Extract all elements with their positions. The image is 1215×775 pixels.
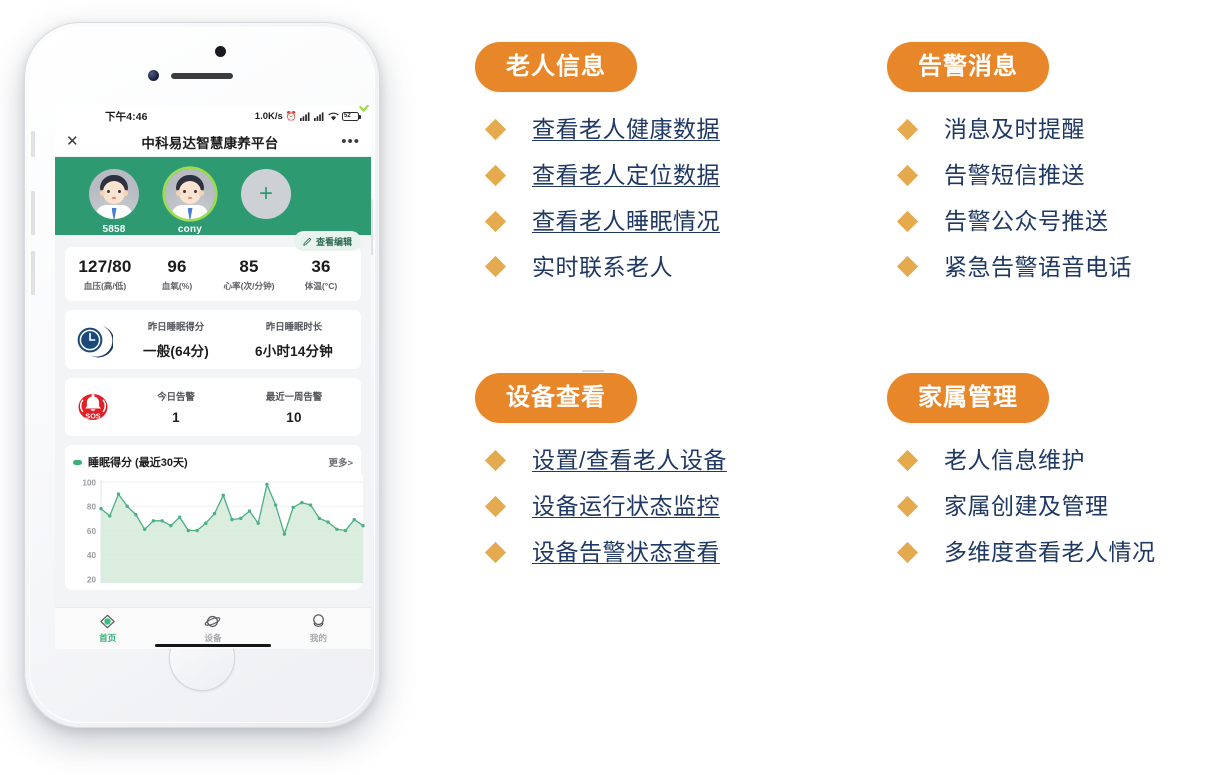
- status-bar: 下午4:46 1.0K/s ⏰: [55, 105, 371, 127]
- svg-text:20: 20: [87, 575, 97, 583]
- today-alarm-column: 今日告警 1: [117, 389, 235, 425]
- section-device-view: 设备查看 设置/查看老人设备 设备运行状态监控 设备告警状态查看: [475, 373, 845, 584]
- list-item[interactable]: 设置/查看老人设备: [475, 446, 845, 475]
- sleep-score-column: 昨日睡眠得分 一般(64分): [117, 319, 235, 360]
- signal-bars-icon: [314, 112, 325, 121]
- alarm-summary-card[interactable]: SOS 今日告警 1 最近一周告警 10: [65, 378, 361, 436]
- column-value: 6小时14分钟: [235, 340, 353, 360]
- home-icon: [99, 613, 116, 630]
- diamond-bullet-icon: [485, 450, 506, 471]
- section-item-list: 设置/查看老人设备 设备运行状态监控 设备告警状态查看: [475, 446, 845, 566]
- chart-header: 睡眠得分 (最近30天) 更多>: [73, 454, 353, 470]
- status-bar-time: 下午4:46: [105, 109, 148, 124]
- more-options-icon[interactable]: •••: [341, 134, 360, 149]
- diamond-bullet-icon: [897, 165, 918, 186]
- poster-canvas: 下午4:46 1.0K/s ⏰: [0, 0, 1215, 775]
- alarm-clock-icon: ⏰: [286, 112, 297, 121]
- earpiece-speaker-icon: [171, 73, 233, 79]
- decorative-dash: [582, 370, 604, 372]
- list-item[interactable]: 紧急告警语音电话: [887, 253, 1215, 282]
- avatar-name: 5858: [102, 224, 125, 235]
- vital-value: 96: [141, 257, 213, 277]
- sleep-score-area-chart: 10080604020: [73, 475, 369, 583]
- vital-blood-oxygen[interactable]: 96 血氧(%): [141, 257, 213, 292]
- section-item-list: 消息及时提醒 告警短信推送 告警公众号推送 紧急告警语音电话: [887, 115, 1215, 281]
- plus-icon: +: [241, 169, 291, 219]
- list-item-label: 查看老人健康数据: [532, 115, 720, 144]
- volume-down-button[interactable]: [31, 251, 35, 295]
- section-title-pill: 设备查看: [475, 373, 637, 423]
- list-item-label: 设置/查看老人设备: [532, 446, 727, 475]
- section-item-list: 查看老人健康数据 查看老人定位数据 查看老人睡眠情况 实时联系老人: [475, 115, 845, 281]
- column-value: 1: [117, 410, 235, 425]
- sleep-duration-column: 昨日睡眠时长 6小时14分钟: [235, 319, 353, 360]
- legend-dot-icon: [73, 460, 82, 465]
- vital-label: 血氧(%): [141, 280, 213, 292]
- phone-screen: 下午4:46 1.0K/s ⏰: [55, 105, 371, 649]
- list-item-label: 设备告警状态查看: [532, 538, 720, 567]
- diamond-bullet-icon: [897, 256, 918, 277]
- list-item-label: 告警公众号推送: [944, 207, 1109, 236]
- vital-label: 心率(次/分钟): [213, 280, 285, 292]
- front-camera-icon: [148, 70, 159, 81]
- profile-icon: [310, 613, 327, 630]
- list-item[interactable]: 查看老人睡眠情况: [475, 207, 845, 236]
- signal-bars-icon: [300, 112, 311, 121]
- column-title: 最近一周告警: [235, 389, 353, 403]
- diamond-bullet-icon: [485, 256, 506, 277]
- week-alarm-column: 最近一周告警 10: [235, 389, 353, 425]
- diamond-bullet-icon: [485, 496, 506, 517]
- vital-value: 85: [213, 257, 285, 277]
- svg-text:60: 60: [87, 527, 97, 536]
- list-item[interactable]: 家属创建及管理: [887, 492, 1215, 521]
- vital-label: 体温(°C): [285, 280, 357, 292]
- sos-bell-icon: SOS: [73, 387, 113, 427]
- chart-more-link[interactable]: 更多>: [328, 455, 353, 469]
- diamond-bullet-icon: [897, 542, 918, 563]
- diamond-bullet-icon: [485, 119, 506, 140]
- list-item-label: 查看老人定位数据: [532, 161, 720, 190]
- app-title: 中科易达智慧康养平台: [79, 132, 342, 152]
- app-navigation-bar: ✕ 中科易达智慧康养平台 •••: [55, 127, 371, 157]
- battery-icon: 52: [342, 112, 359, 121]
- vital-label: 血压(高/低): [69, 280, 141, 292]
- chart-plot: 10080604020: [73, 475, 353, 588]
- list-item[interactable]: 老人信息维护: [887, 446, 1215, 475]
- phone-body: 下午4:46 1.0K/s ⏰: [24, 22, 380, 728]
- list-item[interactable]: 告警短信推送: [887, 161, 1215, 190]
- list-item[interactable]: 实时联系老人: [475, 253, 845, 282]
- column-value: 10: [235, 410, 353, 425]
- sleep-score-chart-card: 睡眠得分 (最近30天) 更多> 10080604020: [65, 445, 361, 590]
- vital-temperature[interactable]: 36 体温(°C): [285, 257, 357, 292]
- vital-heart-rate[interactable]: 85 心率(次/分钟): [213, 257, 285, 292]
- vital-value: 36: [285, 257, 357, 277]
- column-title: 昨日睡眠时长: [235, 319, 353, 333]
- add-elder-button[interactable]: +: [237, 169, 295, 219]
- list-item[interactable]: 查看老人健康数据: [475, 115, 845, 144]
- sleep-summary-card[interactable]: 昨日睡眠得分 一般(64分) 昨日睡眠时长 6小时14分钟: [65, 310, 361, 369]
- list-item-label: 家属创建及管理: [944, 492, 1109, 521]
- list-item-label: 告警短信推送: [944, 161, 1085, 190]
- check-icon: [359, 105, 371, 114]
- view-edit-label: 查看编辑: [316, 235, 352, 248]
- list-item-label: 设备运行状态监控: [532, 492, 720, 521]
- device-icon: [204, 613, 221, 630]
- pencil-icon: [303, 237, 312, 246]
- home-indicator: [155, 644, 271, 647]
- svg-text:SOS: SOS: [85, 411, 100, 420]
- tab-home[interactable]: 首页: [55, 613, 160, 644]
- diamond-bullet-icon: [897, 450, 918, 471]
- section-title-pill: 告警消息: [887, 42, 1049, 92]
- section-title-pill: 老人信息: [475, 42, 637, 92]
- column-title: 昨日睡眠得分: [117, 319, 235, 333]
- list-item-label: 多维度查看老人情况: [944, 538, 1156, 567]
- avatar: [89, 169, 139, 219]
- volume-up-button[interactable]: [31, 191, 35, 235]
- column-value: 一般(64分): [117, 340, 235, 360]
- network-speed-label: 1.0K/s: [255, 111, 283, 122]
- avatar: [165, 169, 215, 219]
- avatar-name: cony: [178, 224, 202, 235]
- tab-device[interactable]: 设备: [160, 613, 265, 644]
- list-item[interactable]: 消息及时提醒: [887, 115, 1215, 144]
- svg-text:100: 100: [82, 478, 96, 487]
- list-item-label: 老人信息维护: [944, 446, 1085, 475]
- tab-profile[interactable]: 我的: [266, 613, 371, 644]
- bottom-tab-bar: 首页 设备 我的: [55, 607, 371, 649]
- diamond-bullet-icon: [485, 165, 506, 186]
- diamond-bullet-icon: [485, 211, 506, 232]
- diamond-bullet-icon: [897, 496, 918, 517]
- view-edit-button[interactable]: 查看编辑: [294, 231, 361, 251]
- diamond-bullet-icon: [897, 211, 918, 232]
- list-item-label: 消息及时提醒: [944, 115, 1085, 144]
- column-title: 今日告警: [117, 389, 235, 403]
- avatar-item[interactable]: 5858: [85, 169, 143, 235]
- section-family-management: 家属管理 老人信息维护 家属创建及管理 多维度查看老人情况: [887, 373, 1215, 584]
- mute-switch-button[interactable]: [31, 131, 35, 157]
- moon-clock-icon: [73, 320, 113, 360]
- close-icon[interactable]: ✕: [66, 134, 79, 149]
- section-alarm-message: 告警消息 消息及时提醒 告警短信推送 告警公众号推送 紧急告警语音电话: [887, 42, 1215, 298]
- list-item-label: 实时联系老人: [532, 253, 673, 282]
- avatar-item-selected[interactable]: cony: [161, 169, 219, 235]
- wifi-icon: [328, 112, 339, 121]
- profile-hero-section: 5858 cony: [55, 157, 371, 235]
- section-item-list: 老人信息维护 家属创建及管理 多维度查看老人情况: [887, 446, 1215, 566]
- tab-label: 我的: [310, 632, 327, 644]
- chart-title: 睡眠得分 (最近30天): [88, 454, 188, 470]
- diamond-bullet-icon: [897, 119, 918, 140]
- diamond-bullet-icon: [485, 542, 506, 563]
- list-item[interactable]: 设备告警状态查看: [475, 538, 845, 567]
- feature-sections: 老人信息 查看老人健康数据 查看老人定位数据 查看老人睡眠情况 实时联系老人: [462, 0, 1215, 775]
- list-item[interactable]: 设备运行状态监控: [475, 492, 845, 521]
- proximity-sensor-icon: [215, 46, 226, 57]
- avatar-list: 5858 cony: [55, 169, 371, 235]
- svg-text:40: 40: [87, 551, 97, 560]
- list-item[interactable]: 告警公众号推送: [887, 207, 1215, 236]
- svg-text:80: 80: [87, 503, 97, 512]
- vital-value: 127/80: [69, 257, 141, 277]
- tab-label: 设备: [204, 632, 221, 644]
- tab-label: 首页: [99, 632, 116, 644]
- list-item-label: 查看老人睡眠情况: [532, 207, 720, 236]
- vitals-card: 127/80 血压(高/低) 96 血氧(%) 85 心率(次/分钟) 36 体…: [65, 247, 361, 301]
- section-elder-info: 老人信息 查看老人健康数据 查看老人定位数据 查看老人睡眠情况 实时联系老人: [475, 42, 845, 298]
- list-item[interactable]: 查看老人定位数据: [475, 161, 845, 190]
- list-item[interactable]: 多维度查看老人情况: [887, 538, 1215, 567]
- section-title-pill: 家属管理: [887, 373, 1049, 423]
- list-item-label: 紧急告警语音电话: [944, 253, 1132, 282]
- phone-mockup: 下午4:46 1.0K/s ⏰: [14, 8, 390, 738]
- status-bar-indicators: 1.0K/s ⏰: [255, 111, 359, 122]
- battery-level-label: 52: [344, 113, 351, 119]
- vital-blood-pressure[interactable]: 127/80 血压(高/低): [69, 257, 141, 292]
